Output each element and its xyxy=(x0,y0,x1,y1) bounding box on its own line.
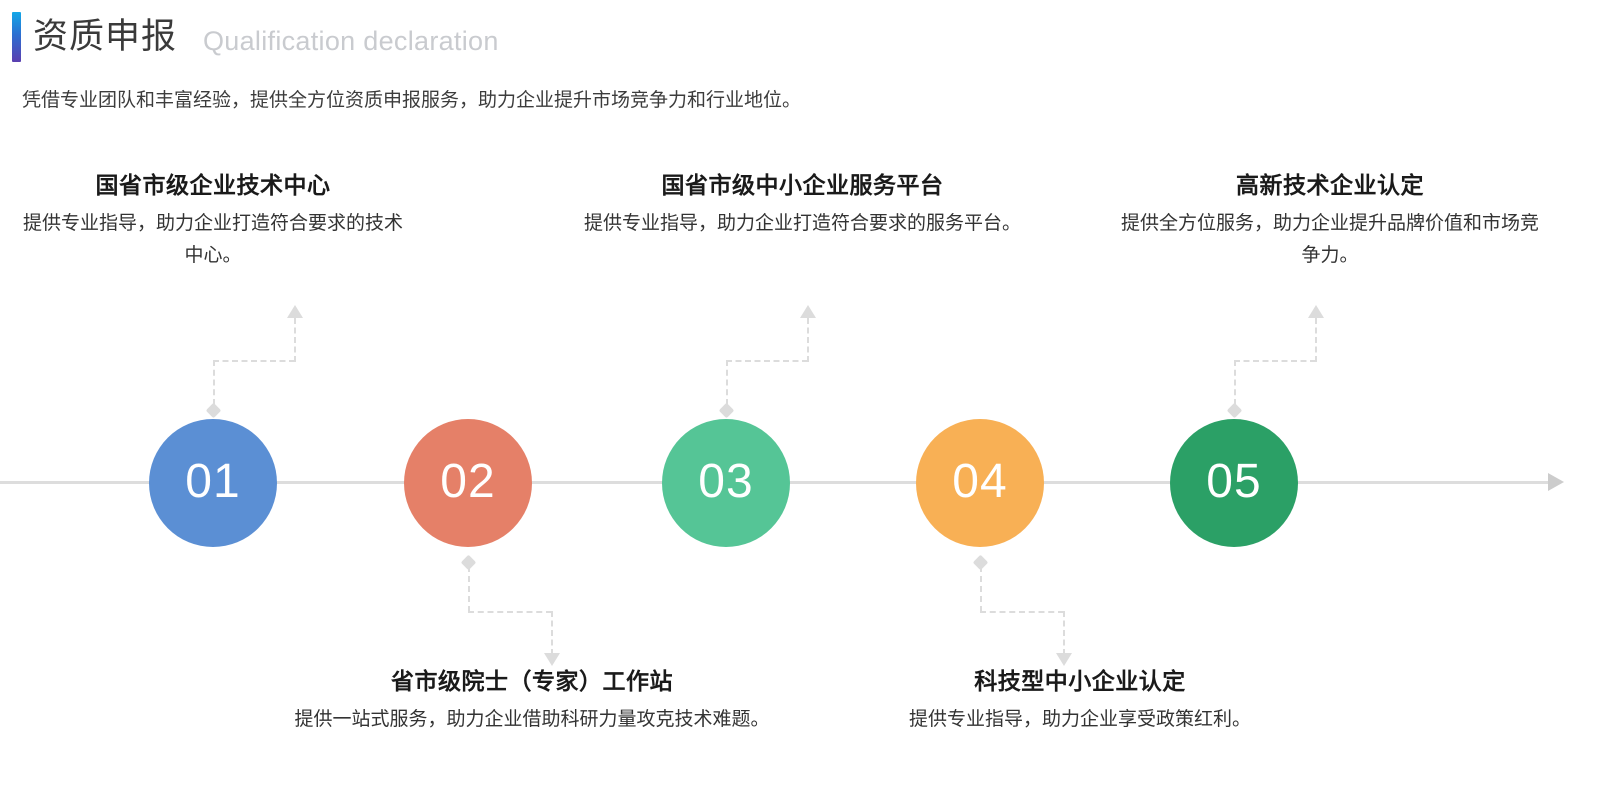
page-subtitle-english: Qualification declaration xyxy=(203,22,499,60)
card-description: 提供全方位服务，助力企业提升品牌价值和市场竞争力。 xyxy=(1120,208,1540,272)
node-number-label: 01 xyxy=(185,458,240,506)
timeline-node-02[interactable]: 02 xyxy=(404,419,532,547)
card-03: 国省市级中小企业服务平台 提供专业指导，助力企业打造符合要求的服务平台。 xyxy=(570,168,1035,240)
timeline-arrow-icon xyxy=(1548,473,1564,491)
card-description: 提供专业指导，助力企业享受政策红利。 xyxy=(860,704,1300,736)
timeline-node-05[interactable]: 05 xyxy=(1170,419,1298,547)
card-description: 提供专业指导，助力企业打造符合要求的技术中心。 xyxy=(18,208,408,272)
card-description: 提供一站式服务，助力企业借助科研力量攻克技术难题。 xyxy=(282,704,782,736)
timeline-node-03[interactable]: 03 xyxy=(662,419,790,547)
card-title: 科技型中小企业认定 xyxy=(860,664,1300,698)
card-title: 省市级院士（专家）工作站 xyxy=(282,664,782,698)
card-04: 科技型中小企业认定 提供专业指导，助力企业享受政策红利。 xyxy=(860,664,1300,736)
page-header: 资质申报 Qualification declaration xyxy=(0,0,1600,72)
node-number-label: 05 xyxy=(1206,458,1261,506)
page-title: 资质申报 xyxy=(33,14,177,60)
node-number-label: 02 xyxy=(440,458,495,506)
card-05: 高新技术企业认定 提供全方位服务，助力企业提升品牌价值和市场竞争力。 xyxy=(1120,168,1540,272)
card-title: 国省市级中小企业服务平台 xyxy=(570,168,1035,202)
accent-bar-icon xyxy=(12,12,21,62)
card-02: 省市级院士（专家）工作站 提供一站式服务，助力企业借助科研力量攻克技术难题。 xyxy=(282,664,782,736)
intro-paragraph: 凭借专业团队和丰富经验，提供全方位资质申报服务，助力企业提升市场竞争力和行业地位… xyxy=(22,86,801,116)
card-description: 提供专业指导，助力企业打造符合要求的服务平台。 xyxy=(570,208,1035,240)
node-number-label: 03 xyxy=(698,458,753,506)
card-01: 国省市级企业技术中心 提供专业指导，助力企业打造符合要求的技术中心。 xyxy=(18,168,408,272)
card-title: 国省市级企业技术中心 xyxy=(18,168,408,202)
timeline-node-04[interactable]: 04 xyxy=(916,419,1044,547)
node-number-label: 04 xyxy=(952,458,1007,506)
card-title: 高新技术企业认定 xyxy=(1120,168,1540,202)
timeline-node-01[interactable]: 01 xyxy=(149,419,277,547)
